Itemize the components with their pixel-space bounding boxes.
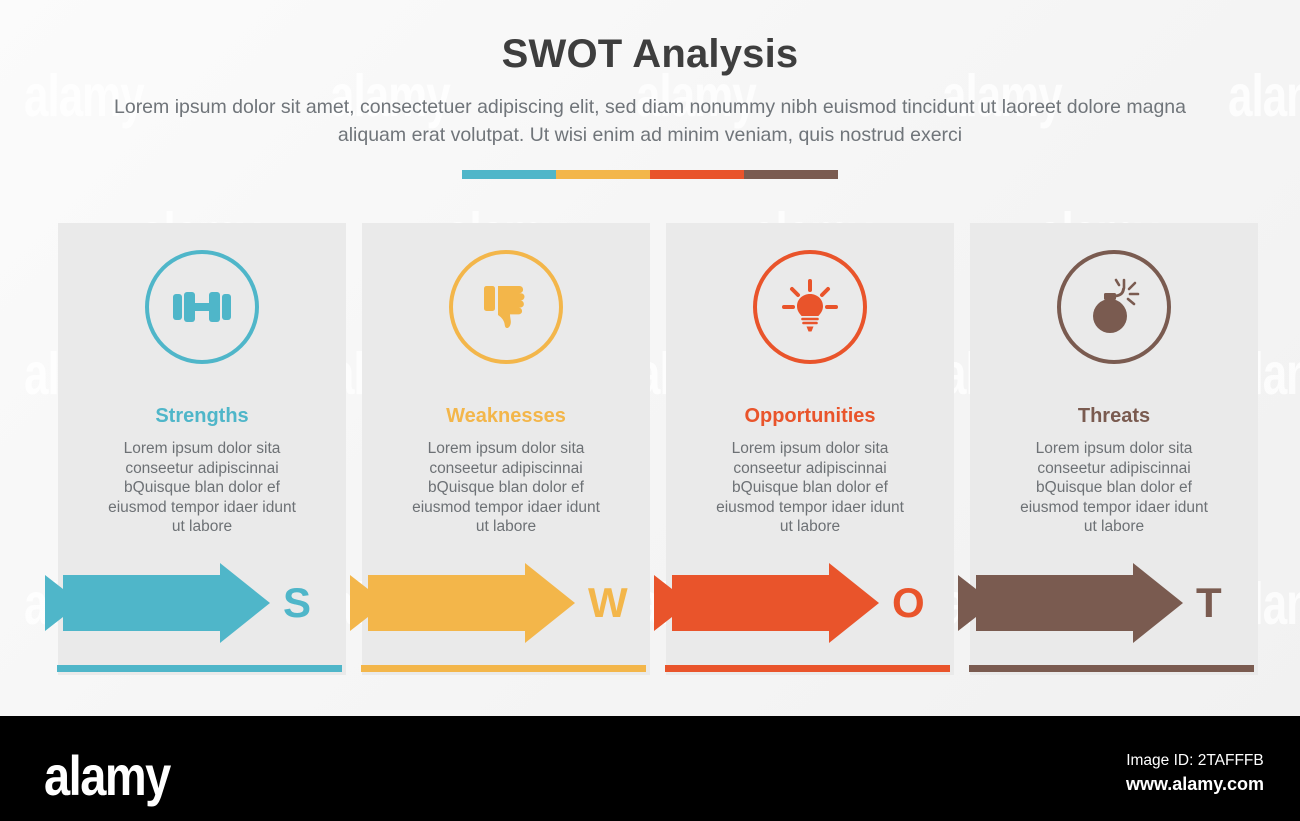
letter-badge-t: T bbox=[1196, 582, 1222, 624]
divider-segment-0 bbox=[462, 170, 556, 179]
card-title-strengths: Strengths bbox=[58, 405, 346, 428]
letter-badge-o: O bbox=[892, 582, 925, 624]
page-subtitle: Lorem ipsum dolor sit amet, consectetuer… bbox=[90, 93, 1210, 149]
bomb-icon bbox=[1085, 278, 1143, 336]
image-id-label: Image ID: 2TAFFFB bbox=[1126, 752, 1264, 770]
underline-bar-weaknesses bbox=[361, 665, 646, 672]
card-body-strengths: Lorem ipsum dolor sita conseetur adipisc… bbox=[100, 439, 305, 537]
lightbulb-icon-circle bbox=[753, 250, 867, 364]
card-body-opportunities: Lorem ipsum dolor sita conseetur adipisc… bbox=[708, 439, 913, 537]
arrow-group-threats: T bbox=[958, 563, 1248, 643]
card-title-weaknesses: Weaknesses bbox=[362, 405, 650, 428]
lightbulb-icon bbox=[781, 278, 839, 336]
dumbbell-icon bbox=[171, 287, 233, 327]
arrow-right-icon bbox=[350, 563, 575, 643]
footer-meta: Image ID: 2TAFFFB www.alamy.com bbox=[1126, 752, 1264, 795]
bomb-icon-circle bbox=[1057, 250, 1171, 364]
header: SWOT Analysis Lorem ipsum dolor sit amet… bbox=[0, 0, 1300, 179]
page-title: SWOT Analysis bbox=[0, 32, 1300, 77]
infographic-canvas: alamy alamy alamy alamy alamy alamy alam… bbox=[0, 0, 1300, 716]
arrow-row: S W O T bbox=[0, 563, 1300, 643]
arrow-right-icon bbox=[958, 563, 1183, 643]
divider-segment-1 bbox=[556, 170, 650, 179]
color-divider bbox=[462, 170, 838, 179]
divider-segment-2 bbox=[650, 170, 744, 179]
underline-bar-threats bbox=[969, 665, 1254, 672]
underline-bar-opportunities bbox=[665, 665, 950, 672]
arrow-group-strengths: S bbox=[45, 563, 335, 643]
thumbs-down-icon-circle bbox=[449, 250, 563, 364]
thumbs-down-icon bbox=[481, 282, 531, 332]
letter-badge-w: W bbox=[588, 582, 628, 624]
card-title-threats: Threats bbox=[970, 405, 1258, 428]
arrow-group-opportunities: O bbox=[654, 563, 944, 643]
divider-segment-3 bbox=[744, 170, 838, 179]
alamy-logo: alamy bbox=[44, 743, 170, 808]
arrow-group-weaknesses: W bbox=[350, 563, 640, 643]
card-body-threats: Lorem ipsum dolor sita conseetur adipisc… bbox=[1012, 439, 1217, 537]
website-url: www.alamy.com bbox=[1126, 774, 1264, 795]
dumbbell-icon-circle bbox=[145, 250, 259, 364]
underline-bars bbox=[0, 665, 1300, 677]
underline-bar-strengths bbox=[57, 665, 342, 672]
stock-footer-bar: alamy Image ID: 2TAFFFB www.alamy.com bbox=[0, 716, 1300, 821]
card-body-weaknesses: Lorem ipsum dolor sita conseetur adipisc… bbox=[404, 439, 609, 537]
card-title-opportunities: Opportunities bbox=[666, 405, 954, 428]
arrow-right-icon bbox=[45, 563, 270, 643]
arrow-right-icon bbox=[654, 563, 879, 643]
letter-badge-s: S bbox=[283, 582, 311, 624]
